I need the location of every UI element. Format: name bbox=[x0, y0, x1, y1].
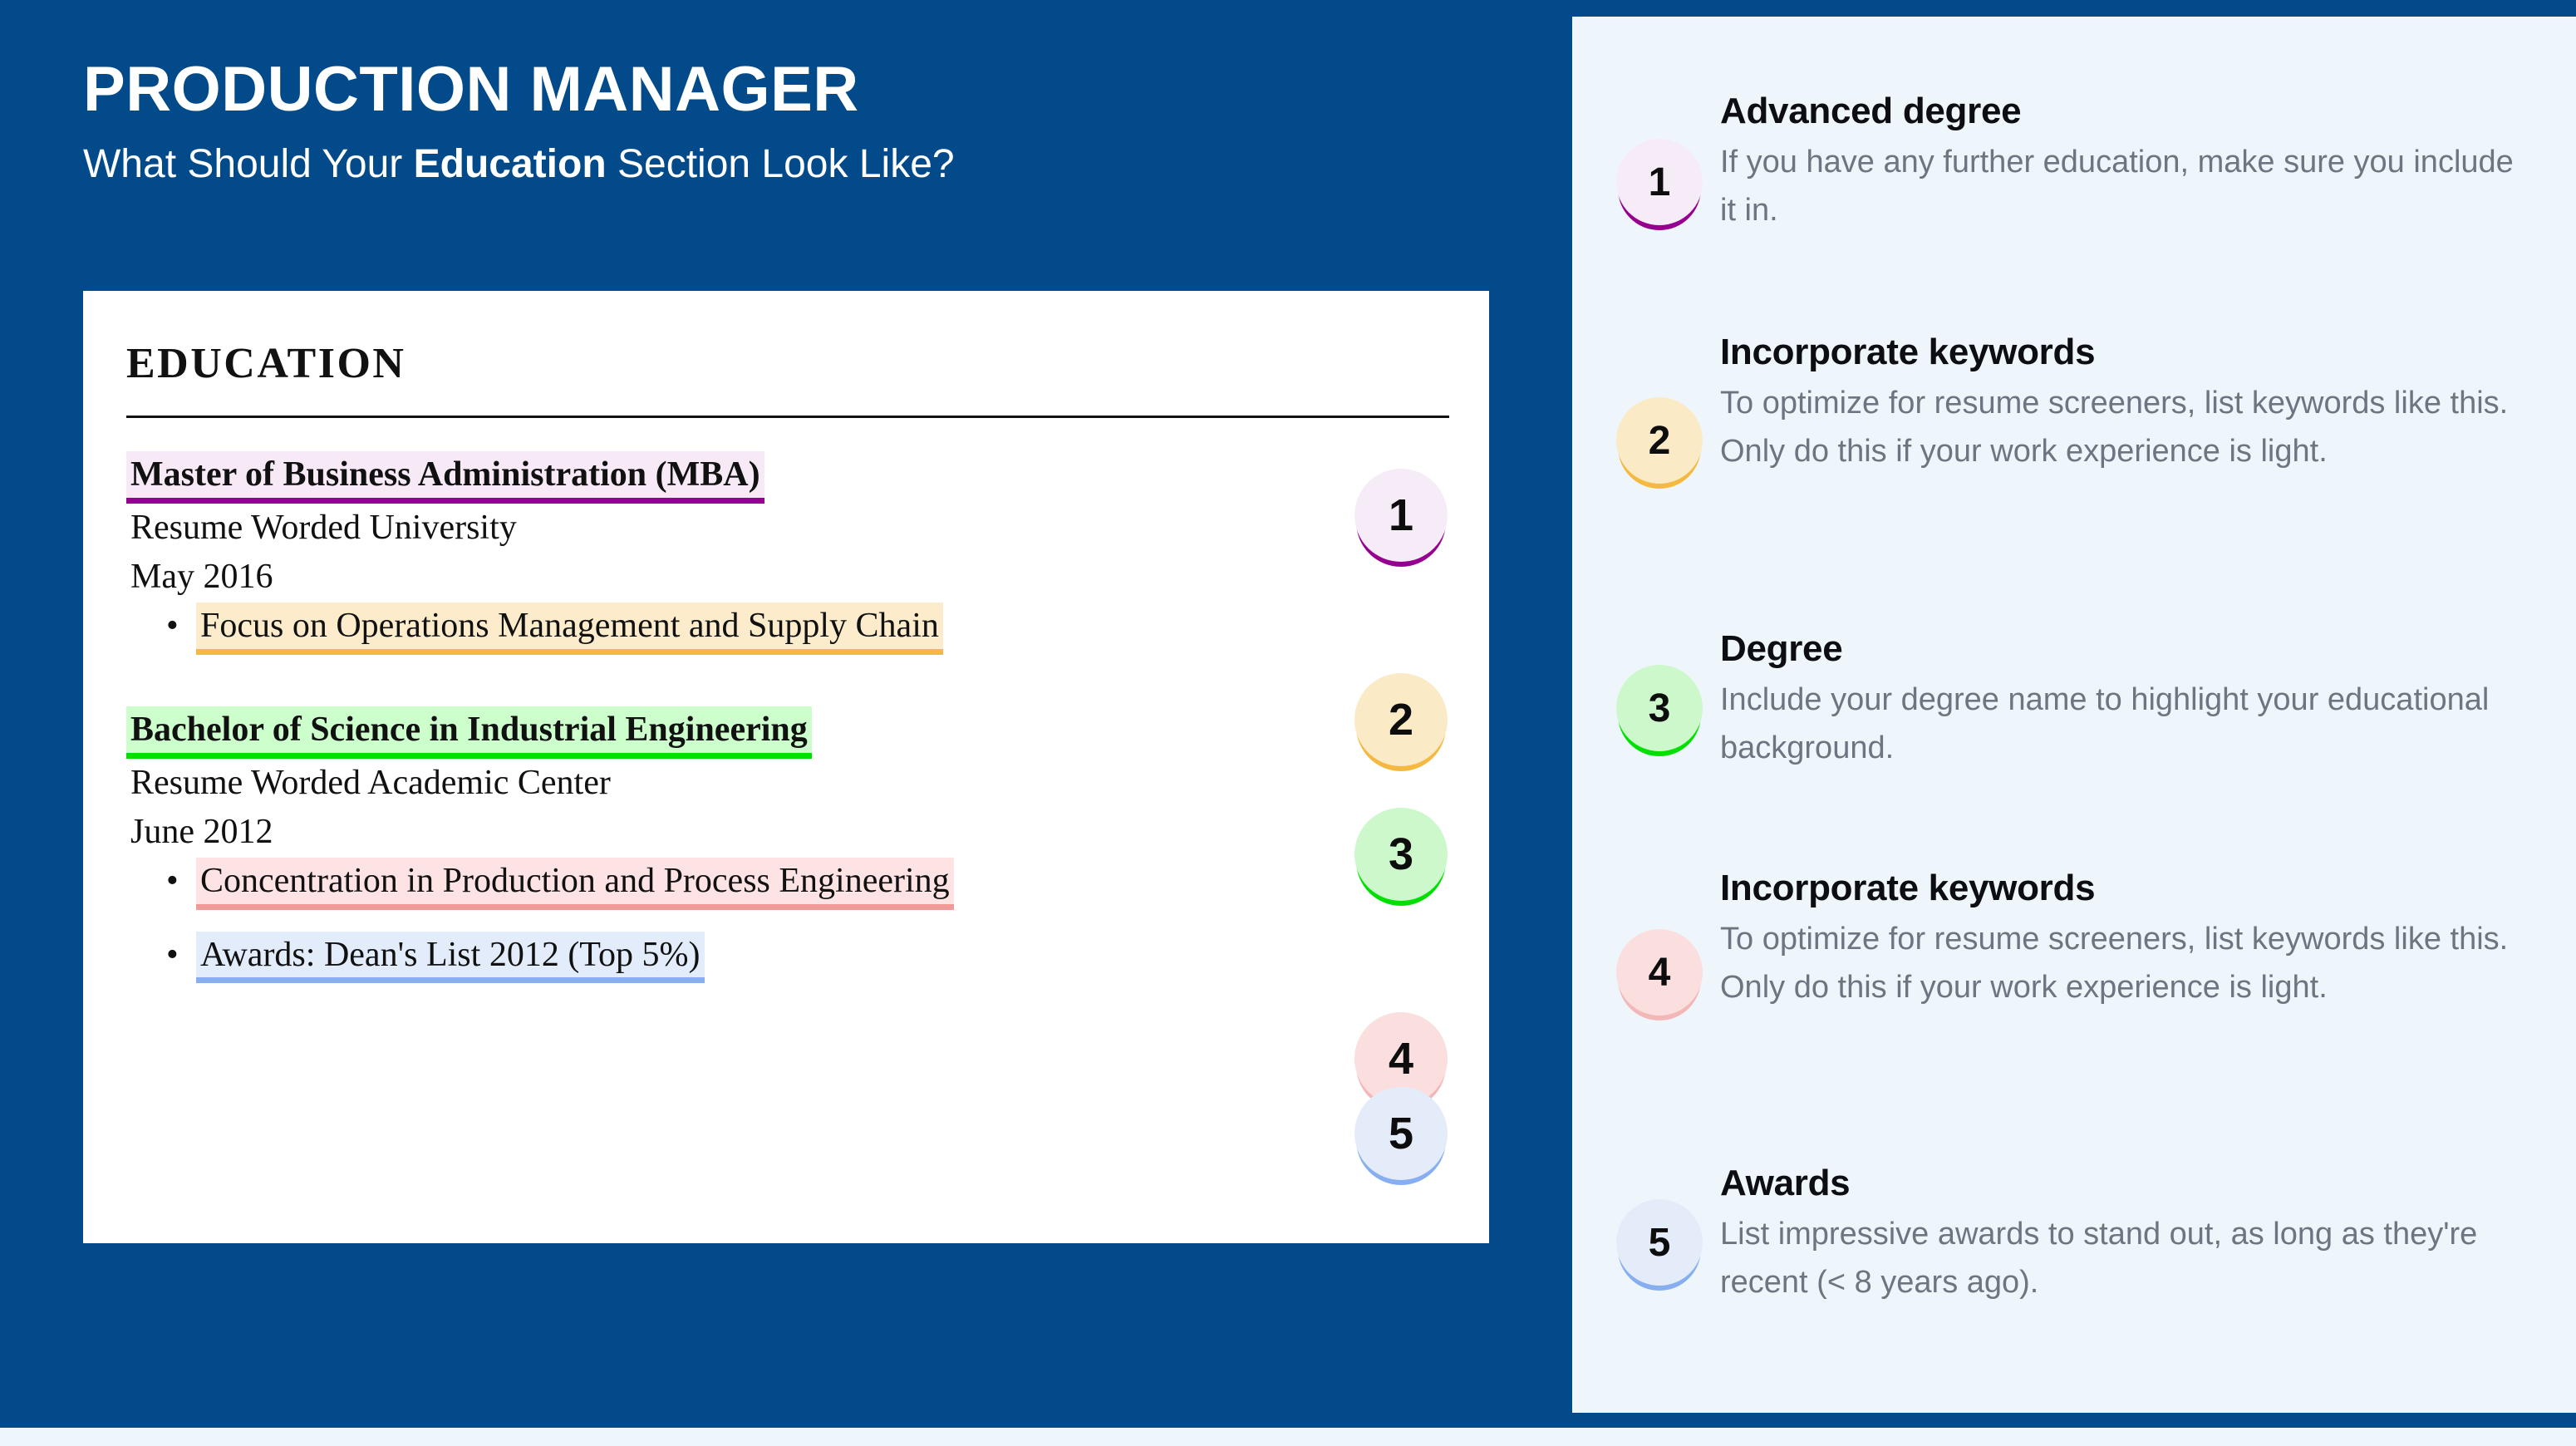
tip-body: Include your degree name to highlight yo… bbox=[1720, 676, 2514, 773]
tip-badge-4[interactable]: 4 bbox=[1616, 929, 1703, 1016]
tip-title: Incorporate keywords bbox=[1720, 332, 2514, 372]
callout-badge-3[interactable]: 3 bbox=[1354, 808, 1448, 901]
header: PRODUCTION MANAGER What Should Your Educ… bbox=[83, 58, 1496, 187]
tip-title: Degree bbox=[1720, 629, 2514, 669]
graduation-date: May 2016 bbox=[126, 553, 1446, 602]
resume-preview-card: EDUCATION Master of Business Administrat… bbox=[83, 291, 1489, 1243]
tip-item-5: Awards List impressive awards to stand o… bbox=[1720, 1163, 2514, 1307]
tip-title: Advanced degree bbox=[1720, 91, 2514, 131]
graduation-date: June 2012 bbox=[126, 808, 1446, 858]
degree-title-row: Master of Business Administration (MBA) bbox=[126, 451, 1446, 504]
bullet-item: • Awards: Dean's List 2012 (Top 5%) bbox=[126, 932, 1446, 984]
page-subtitle: What Should Your Education Section Look … bbox=[83, 143, 1496, 187]
education-entry: Bachelor of Science in Industrial Engine… bbox=[126, 706, 1446, 984]
school-name: Resume Worded Academic Center bbox=[126, 759, 1446, 809]
tip-badge-5[interactable]: 5 bbox=[1616, 1199, 1703, 1286]
tip-title: Awards bbox=[1720, 1163, 2514, 1203]
bullet-item: • Focus on Operations Management and Sup… bbox=[126, 602, 1446, 655]
section-divider bbox=[126, 416, 1449, 418]
degree-title-row: Bachelor of Science in Industrial Engine… bbox=[126, 706, 1446, 759]
resume-content: EDUCATION Master of Business Administrat… bbox=[126, 342, 1446, 983]
degree-title-highlight: Bachelor of Science in Industrial Engine… bbox=[126, 706, 812, 759]
tip-body: List impressive awards to stand out, as … bbox=[1720, 1211, 2514, 1307]
callout-badge-1[interactable]: 1 bbox=[1354, 469, 1448, 562]
tip-item-4: Incorporate keywords To optimize for res… bbox=[1720, 868, 2514, 1012]
page-subtitle-suffix: Section Look Like? bbox=[607, 142, 955, 186]
tip-badge-3[interactable]: 3 bbox=[1616, 665, 1703, 751]
tip-badge-1[interactable]: 1 bbox=[1616, 139, 1703, 225]
page-title: PRODUCTION MANAGER bbox=[83, 58, 1496, 121]
bullet-dot-icon: • bbox=[166, 602, 196, 649]
tip-body: If you have any further education, make … bbox=[1720, 139, 2514, 235]
callout-badge-2[interactable]: 2 bbox=[1354, 673, 1448, 766]
tip-item-1: Advanced degree If you have any further … bbox=[1720, 91, 2514, 235]
callout-badge-5[interactable]: 5 bbox=[1354, 1087, 1448, 1180]
tip-badge-2[interactable]: 2 bbox=[1616, 397, 1703, 484]
bullet-text-highlight: Awards: Dean's List 2012 (Top 5%) bbox=[196, 932, 705, 984]
tip-item-2: Incorporate keywords To optimize for res… bbox=[1720, 332, 2514, 476]
education-entry: Master of Business Administration (MBA) … bbox=[126, 451, 1446, 655]
tip-title: Incorporate keywords bbox=[1720, 868, 2514, 908]
bullet-text-highlight: Focus on Operations Management and Suppl… bbox=[196, 602, 943, 655]
page-subtitle-emphasis: Education bbox=[414, 142, 607, 186]
resume-section-heading: EDUCATION bbox=[126, 342, 1446, 386]
tip-item-3: Degree Include your degree name to highl… bbox=[1720, 629, 2514, 773]
tip-body: To optimize for resume screeners, list k… bbox=[1720, 380, 2514, 476]
bullet-item: • Concentration in Production and Proces… bbox=[126, 858, 1446, 910]
bullet-dot-icon: • bbox=[166, 858, 196, 904]
bullet-dot-icon: • bbox=[166, 932, 196, 978]
degree-title-highlight: Master of Business Administration (MBA) bbox=[126, 451, 764, 504]
school-name: Resume Worded University bbox=[126, 504, 1446, 553]
bullet-text-highlight: Concentration in Production and Process … bbox=[196, 858, 954, 910]
tip-body: To optimize for resume screeners, list k… bbox=[1720, 916, 2514, 1012]
page-subtitle-prefix: What Should Your bbox=[83, 142, 414, 186]
